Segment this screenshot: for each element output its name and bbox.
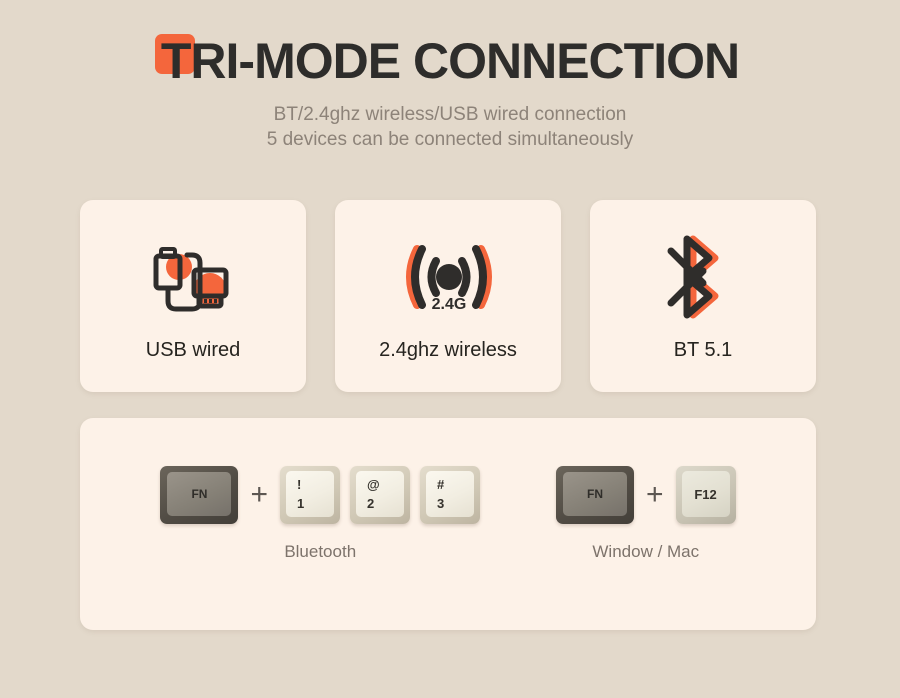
feature-card-usb[interactable]: USB wired xyxy=(80,200,306,392)
shortcut-panel: FN + ! 1 @ 2 xyxy=(80,418,816,630)
key-fn[interactable]: FN xyxy=(160,466,238,524)
key-legend-bottom: 1 xyxy=(297,497,304,510)
feature-card-label: BT 5.1 xyxy=(674,339,733,362)
shortcut-caption: Bluetooth xyxy=(284,542,356,562)
key-group: FN + F12 xyxy=(556,466,736,524)
feature-card-bluetooth[interactable]: BT 5.1 xyxy=(590,200,816,392)
wireless-badge-text: 2.4G xyxy=(432,296,467,313)
shortcut-combo-window-mac: FN + F12 Window / Mac xyxy=(556,466,736,562)
subtitle: BT/2.4ghz wireless/USB wired connection … xyxy=(0,102,900,153)
shortcut-combo-bluetooth: FN + ! 1 @ 2 xyxy=(160,466,480,562)
key-legend-top: @ xyxy=(367,478,380,491)
key-3[interactable]: # 3 xyxy=(420,466,480,524)
feature-card-wireless[interactable]: 2.4G 2.4ghz wireless xyxy=(335,200,561,392)
key-fn[interactable]: FN xyxy=(556,466,634,524)
bluetooth-icon xyxy=(665,231,741,323)
plus-separator: + xyxy=(250,480,268,510)
feature-card-list: USB wired 2.4G 2.4ghz wireless xyxy=(80,200,816,392)
wireless-signal-icon: 2.4G xyxy=(393,231,503,323)
key-legend-top: # xyxy=(437,478,444,491)
key-f12[interactable]: F12 xyxy=(676,466,736,524)
feature-card-label: USB wired xyxy=(146,339,240,362)
subtitle-line-2: 5 devices can be connected simultaneousl… xyxy=(0,127,900,152)
header: TRI-MODE CONNECTION BT/2.4ghz wireless/U… xyxy=(0,0,900,153)
page-title: TRI-MODE CONNECTION xyxy=(161,30,739,92)
key-legend-top: ! xyxy=(297,478,301,491)
key-2[interactable]: @ 2 xyxy=(350,466,410,524)
key-legend: F12 xyxy=(694,487,716,502)
page-title-text: TRI-MODE CONNECTION xyxy=(161,33,739,89)
shortcut-caption: Window / Mac xyxy=(592,542,699,562)
feature-card-label: 2.4ghz wireless xyxy=(379,339,517,362)
key-legend: FN xyxy=(191,487,207,501)
key-1[interactable]: ! 1 xyxy=(280,466,340,524)
usb-cable-icon xyxy=(147,231,239,323)
subtitle-line-1: BT/2.4ghz wireless/USB wired connection xyxy=(0,102,900,127)
key-legend: FN xyxy=(587,487,603,501)
plus-separator: + xyxy=(646,480,664,510)
shortcut-combo-list: FN + ! 1 @ 2 xyxy=(80,466,816,562)
key-legend-bottom: 3 xyxy=(437,497,444,510)
key-group: FN + ! 1 @ 2 xyxy=(160,466,480,524)
key-legend-bottom: 2 xyxy=(367,497,374,510)
